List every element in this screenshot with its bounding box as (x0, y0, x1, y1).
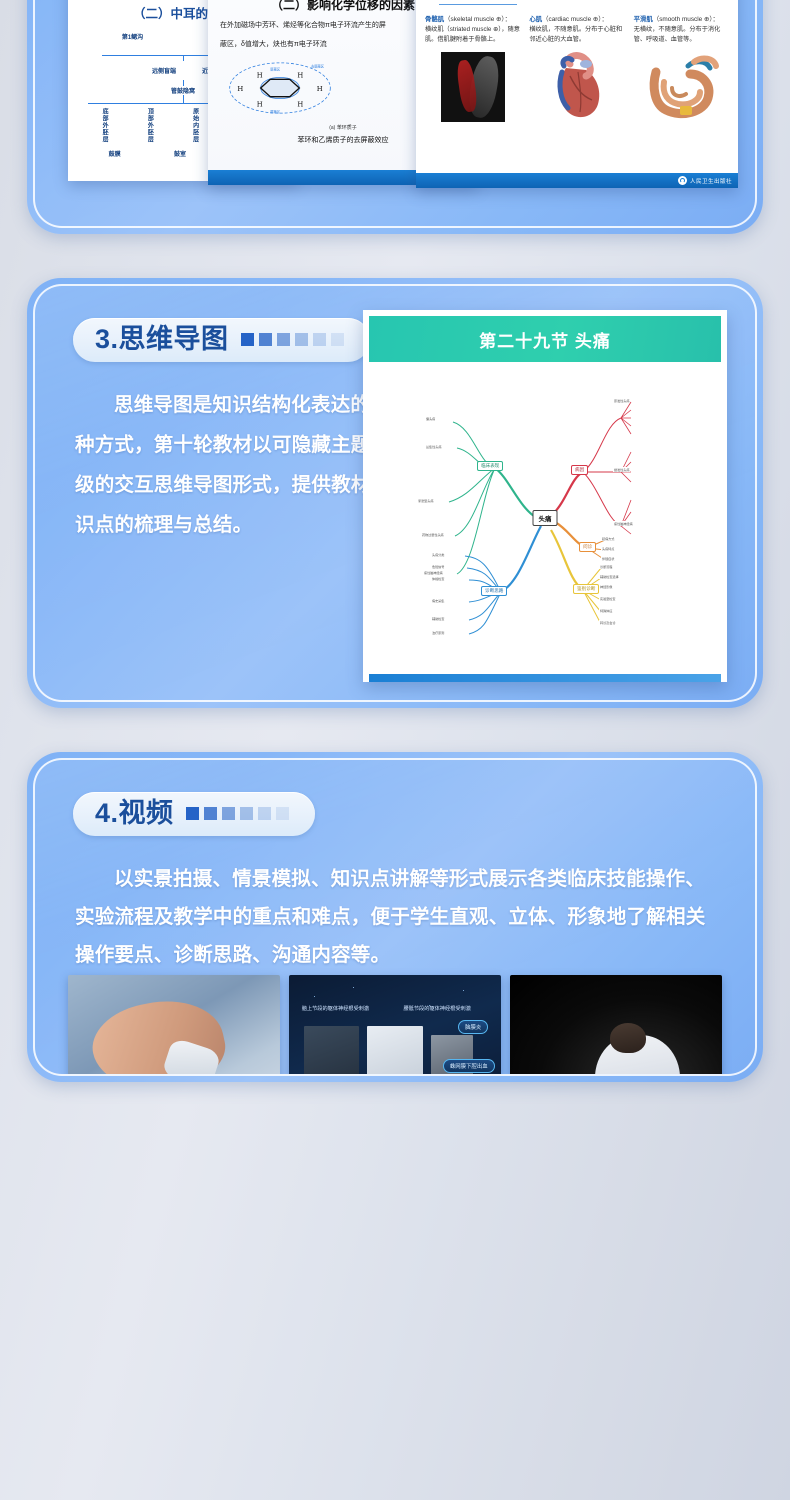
promo-page: 三、自稳调节 第六节 人体内自稳调控系统 一、反馈控制系统 二、前馈控制系统 第… (0, 0, 790, 1500)
mindmap-branch-node[interactable]: 临床表现 (477, 461, 503, 471)
mindmap-leaf[interactable]: 特殊体征 (599, 608, 613, 613)
card-inner: 4.视频 以实景拍摄、情景模拟、知识点讲解等形式展示各类临床技能操作、实验流程及… (33, 758, 757, 1076)
svg-text:H: H (257, 100, 263, 108)
muscle-name-cn: 心肌 (529, 16, 542, 23)
video-thumbnail-clinical[interactable] (68, 975, 280, 1076)
muscle-name-en: （smooth muscle ⊕）： (653, 16, 719, 23)
mindmap-leaf[interactable]: 伴随症状 (601, 556, 615, 561)
mindmap-leaf[interactable]: 痛性脑神经病 (423, 570, 444, 575)
video-thumbnail-knowledge[interactable]: 脑上节段的躯体神经根受刺激 腰骶节段的躯体神经根受刺激 脑膜炎 蛛网膜下腔出血 (289, 975, 501, 1076)
section-card-courseware: 2.教学课件 教学课件注重课程设计，突出教学应用；并充分应用图片、视频、动画、音… (27, 0, 763, 234)
mindmap-leaf[interactable]: 继发性头痛 (613, 467, 630, 472)
muscle-image (634, 51, 729, 123)
mindmap-footer-bar (369, 674, 721, 682)
mindmap-leaf[interactable]: 体格检查 (431, 576, 445, 581)
section-header-mindmap: 3.思维导图 (73, 318, 370, 362)
section-body-text: 思维导图是知识结构化表达的一种方式，第十轮教材以可隐藏主题层级的交互思维导图形式… (75, 386, 395, 546)
video-thumbnail-lecture[interactable] (510, 975, 722, 1076)
square-dots-decoration (241, 333, 344, 346)
benzene-shielding-diagram: H H H H H H 屏蔽区 屏蔽区 去屏蔽区 (220, 58, 340, 118)
muscle-description: 横纹肌（striated muscle ⊕），随意肌。借肌腱附着于骨骼上。 (425, 25, 520, 45)
svg-text:屏蔽区: 屏蔽区 (270, 67, 281, 72)
mindmap-leaf[interactable]: 紧张型头痛 (417, 498, 434, 503)
muscle-description: 横纹肌，不随意肌。分布于心脏和邻近心脏的大血管。 (529, 25, 624, 45)
mindmap-leaf[interactable]: 神经影像 (599, 584, 613, 589)
diagram-node: 第1鳃沟 (122, 32, 143, 41)
slide-body: 分 类 骨骼肌（skeletal muscle ⊕）： 横纹肌（striated… (416, 0, 738, 188)
muscle-column-cardiac: 心肌（cardiac muscle ⊕）： 横纹肌，不随意肌。分布于心脏和邻近心… (529, 14, 624, 123)
mindmap-leaf[interactable]: 辅助检查选择 (599, 574, 620, 579)
video-chip-label[interactable]: 蛛网膜下腔出血 (443, 1059, 495, 1073)
muscle-description: 无横纹，不随意肌。分布于消化管、呼吸道、血管等。 (634, 25, 729, 45)
section-card-video: 4.视频 以实景拍摄、情景模拟、知识点讲解等形式展示各类临床技能操作、实验流程及… (27, 752, 763, 1082)
publisher-name: 人民卫生出版社 (690, 177, 732, 185)
svg-text:H: H (257, 71, 263, 79)
mindmap-branch-node[interactable]: 鉴别诊断 (573, 584, 599, 594)
diagram-node: 鼓膜 (109, 149, 121, 158)
mindmap-canvas[interactable]: 头痛 临床表现 病因 问诊 鉴别诊断 诊断思路 原发性头痛 继发性头痛 痛性脑神… (369, 368, 721, 668)
publisher-mark-icon (678, 176, 687, 185)
svg-text:H: H (297, 71, 303, 79)
mindmap-leaf[interactable]: 头痛分类 (431, 552, 445, 557)
video-inset-photo (367, 1026, 422, 1076)
diagram-node: 顶部外胚层 (145, 108, 154, 143)
mindmap-leaf[interactable]: 原发性头痛 (613, 398, 630, 403)
diagram-node: 管鼓隐窝 (171, 89, 195, 95)
svg-text:H: H (237, 85, 243, 93)
slide-footer: 人民卫生出版社 (416, 173, 738, 188)
svg-text:H: H (317, 85, 323, 93)
video-chip-label[interactable]: 脑膜炎 (458, 1020, 488, 1034)
mindmap-center-node[interactable]: 头痛 (533, 510, 558, 526)
mindmap-leaf[interactable]: 诊断流程 (599, 564, 613, 569)
mindmap-branch-node[interactable]: 病因 (571, 465, 588, 475)
muscle-name-cn: 骨骼肌 (425, 16, 444, 23)
muscle-name-en: （skeletal muscle ⊕）： (444, 16, 511, 23)
digestive-tract-illustration (642, 52, 720, 122)
mindmap-leaf[interactable]: 起病方式 (601, 536, 615, 541)
card-inner: 2.教学课件 教学课件注重课程设计，突出教学应用；并充分应用图片、视频、动画、音… (33, 0, 757, 228)
section-body-text: 以实景拍摄、情景模拟、知识点讲解等形式展示各类临床技能操作、实验流程及教学中的重… (75, 860, 715, 974)
publisher-logo: 人民卫生出版社 (678, 176, 732, 185)
video-label: 腰骶节段的躯体神经根受刺激 (403, 1005, 470, 1012)
section-header-video: 4.视频 (73, 792, 315, 836)
mindmap-panel[interactable]: 第二十九节 头痛 (363, 310, 727, 682)
mindmap-leaf[interactable]: 丛集性头痛 (425, 444, 442, 449)
mindmap-branch-node[interactable]: 诊断思路 (481, 586, 507, 596)
mindmap-leaf[interactable]: 转诊及会诊 (599, 620, 616, 625)
svg-text:屏蔽区: 屏蔽区 (270, 109, 281, 114)
slide-title: 分 类 (439, 0, 517, 5)
diagram-node: 原始内胚层 (191, 108, 200, 143)
mindmap-leaf[interactable]: 危险信号 (431, 564, 445, 569)
section-card-mindmap: 3.思维导图 思维导图是知识结构化表达的一种方式，第十轮教材以可隐藏主题层级的交… (27, 278, 763, 708)
slide-muscle[interactable]: 第6章 肌组织 分 类 骨骼肌（skeletal muscle ⊕）： 横纹肌（… (416, 0, 738, 188)
mindmap-leaf[interactable]: 药物过量性头痛 (421, 532, 445, 537)
muscle-name-cn: 平滑肌 (634, 16, 653, 23)
svg-text:H: H (297, 100, 303, 108)
mindmap-title: 第二十九节 头痛 (369, 316, 721, 362)
mindmap-leaf[interactable]: 辅助检查 (431, 616, 445, 621)
svg-text:去屏蔽区: 去屏蔽区 (311, 64, 325, 69)
muscle-column-smooth: 平滑肌（smooth muscle ⊕）： 无横纹，不随意肌。分布于消化管、呼吸… (634, 14, 729, 123)
diagram-node: 鼓室 (174, 149, 186, 158)
skeletal-muscle-photo (441, 52, 505, 122)
muscle-column-skeletal: 骨骼肌（skeletal muscle ⊕）： 横纹肌（striated mus… (425, 14, 520, 123)
courseware-slide-stack: 第27章 眼与耳的发生 （二）中耳的发生 第1鳃沟 第1咽囊 第1鳃弓 (68, 0, 738, 194)
mindmap-leaf[interactable]: 头痛特点 (601, 546, 615, 551)
mindmap-leaf[interactable]: 痛性脑神经病 (613, 521, 634, 526)
diagram-node: 远侧盲端 (152, 66, 176, 75)
heart-illustration (546, 50, 608, 124)
muscle-name-en: （cardiac muscle ⊕）： (542, 16, 608, 23)
square-dots-decoration (186, 807, 289, 820)
section-title: 4.视频 (95, 800, 174, 827)
mindmap-branch-node[interactable]: 问诊 (579, 542, 596, 552)
mindmap-leaf[interactable]: 病史采集 (431, 598, 445, 603)
video-inset-photo (304, 1026, 359, 1076)
video-thumbnail-row: 脑上节段的躯体神经根受刺激 腰骶节段的躯体神经根受刺激 脑膜炎 蛛网膜下腔出血 (68, 975, 722, 1076)
diagram-node: 底部外胚层 (100, 108, 109, 143)
muscle-image (425, 51, 520, 123)
video-label: 脑上节段的躯体神经根受刺激 (302, 1005, 369, 1012)
muscle-image (529, 51, 624, 123)
mindmap-leaf[interactable]: 治疗原则 (431, 630, 445, 635)
mindmap-leaf[interactable]: 偏头痛 (425, 416, 436, 421)
card-inner: 3.思维导图 思维导图是知识结构化表达的一种方式，第十轮教材以可隐藏主题层级的交… (33, 284, 757, 702)
mindmap-leaf[interactable]: 实验室检查 (599, 596, 616, 601)
section-title: 3.思维导图 (95, 326, 229, 353)
